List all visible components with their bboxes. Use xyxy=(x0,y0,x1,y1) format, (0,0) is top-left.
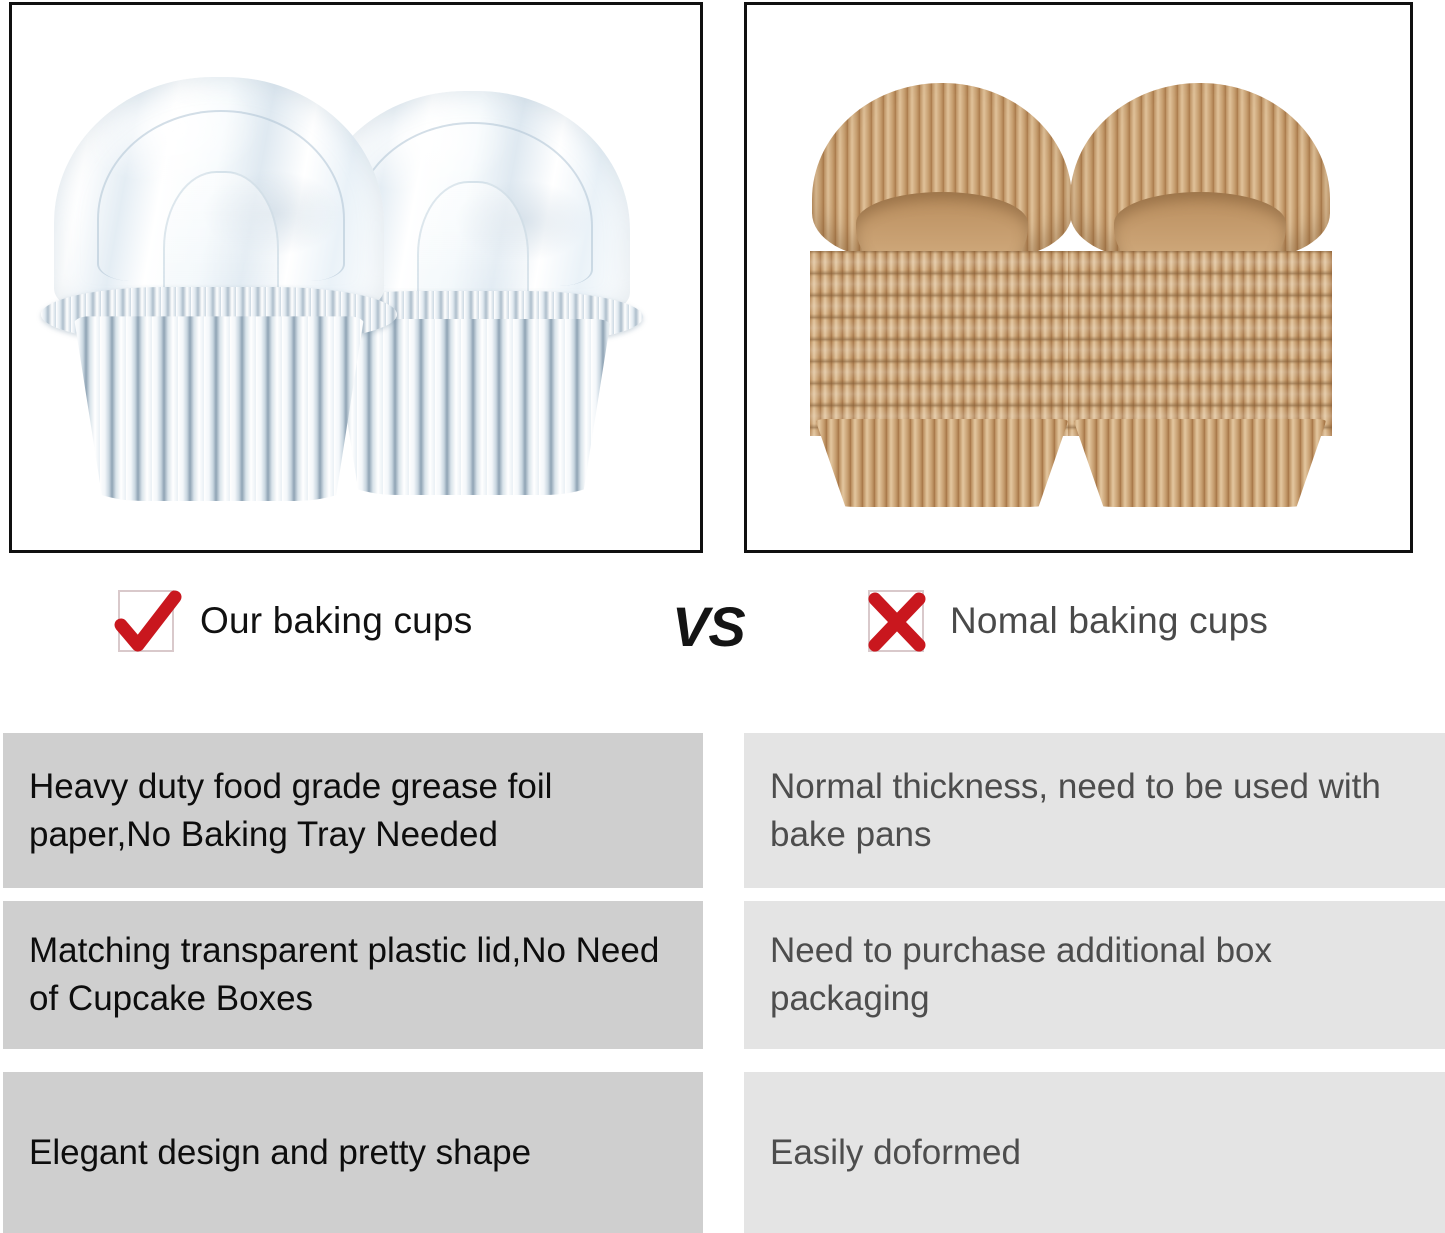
table-row: Elegant design and pretty shape xyxy=(3,1072,703,1233)
table-row: Matching transparent plastic lid,No Need… xyxy=(3,901,703,1049)
dome-lid xyxy=(54,77,384,312)
normal-feature-1: Normal thickness, need to be used with b… xyxy=(744,763,1445,858)
normal-feature-3: Easily doformed xyxy=(744,1129,1047,1177)
table-row: Need to purchase additional box packagin… xyxy=(744,901,1445,1049)
foil-cup-unit-1 xyxy=(54,77,384,497)
foil-cup-body xyxy=(74,316,364,501)
table-row: Heavy duty food grade grease foil paper,… xyxy=(3,733,703,888)
table-row: Normal thickness, need to be used with b… xyxy=(744,733,1445,888)
ours-feature-2: Matching transparent plastic lid,No Need… xyxy=(3,927,703,1022)
table-row: Easily doformed xyxy=(744,1072,1445,1233)
ours-feature-1: Heavy duty food grade grease foil paper,… xyxy=(3,763,703,858)
normal-feature-2: Need to purchase additional box packagin… xyxy=(744,927,1445,1022)
ours-feature-3: Elegant design and pretty shape xyxy=(3,1129,557,1177)
